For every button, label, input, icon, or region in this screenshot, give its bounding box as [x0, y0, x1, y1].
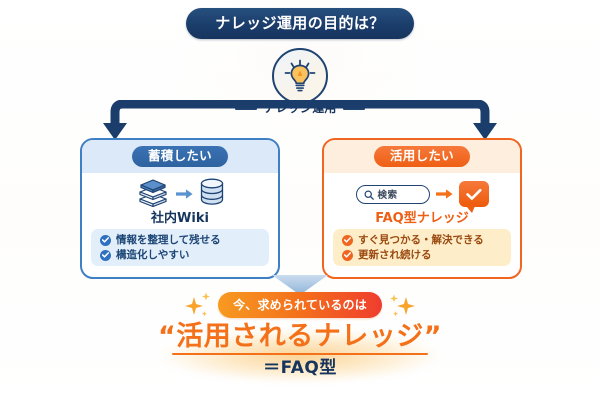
card-accumulate[interactable]: 蓄積したい	[80, 138, 280, 279]
list-item: 構造化しやすい	[100, 249, 269, 261]
card-accumulate-body: 社内Wiki	[82, 173, 278, 229]
conclusion-pill-text: 今、求められているのは	[233, 299, 367, 311]
page-title-text: ナレッジ運用の目的は？	[215, 16, 384, 31]
arrow-right-icon	[436, 185, 453, 204]
list-item-label: すぐ見つかる・解決できる	[358, 234, 484, 246]
search-icon	[364, 185, 374, 204]
books-icon	[136, 177, 170, 211]
database-icon	[199, 177, 225, 211]
page-title: ナレッジ運用の目的は？	[186, 8, 414, 39]
sparkle-right-icon	[388, 292, 418, 320]
card-utilize-header: 活用したい	[324, 140, 520, 173]
card-utilize-bullets: すぐ見つかる・解決できる 更新され続ける	[333, 229, 511, 266]
sparkle-left-icon	[182, 292, 212, 320]
list-item: 更新され続ける	[342, 249, 511, 261]
search-input[interactable]: 検索	[356, 185, 430, 204]
list-item: すぐ見つかる・解決できる	[342, 234, 511, 246]
card-utilize-caption: FAQ型ナレッジ	[375, 212, 469, 225]
infographic-canvas: ナレッジ運用の目的は？ ナレッジ運用	[0, 0, 600, 400]
search-placeholder: 検索	[378, 187, 398, 201]
card-utilize-body: 検索 FAQ型ナレッジ	[324, 173, 520, 229]
card-utilize[interactable]: 活用したい 検索	[322, 138, 522, 279]
arrow-right-icon	[176, 185, 193, 204]
check-circle-icon	[100, 250, 111, 261]
card-accumulate-header: 蓄積したい	[82, 140, 278, 173]
check-bubble-icon	[459, 181, 489, 207]
list-item-label: 構造化しやすい	[116, 249, 189, 261]
card-accumulate-head-label: 蓄積したい	[132, 146, 228, 167]
conclusion-subline: ＝FAQ型	[0, 358, 600, 378]
list-item-label: 更新され続ける	[358, 249, 432, 261]
conclusion-headline: “活用されるナレッジ”	[0, 322, 600, 352]
check-circle-icon	[342, 250, 353, 261]
list-item-label: 情報を整理して残せる	[116, 234, 221, 246]
conclusion-pill: 今、求められているのは	[218, 292, 382, 318]
check-circle-icon	[100, 235, 111, 246]
list-item: 情報を整理して残せる	[100, 234, 269, 246]
branch-connector	[95, 100, 505, 142]
card-utilize-head-label: 活用したい	[374, 146, 470, 167]
card-accumulate-icons	[136, 177, 225, 211]
check-circle-icon	[342, 235, 353, 246]
card-utilize-icons: 検索	[356, 177, 489, 211]
card-accumulate-caption: 社内Wiki	[151, 212, 209, 225]
card-accumulate-bullets: 情報を整理して残せる 構造化しやすい	[91, 229, 269, 266]
